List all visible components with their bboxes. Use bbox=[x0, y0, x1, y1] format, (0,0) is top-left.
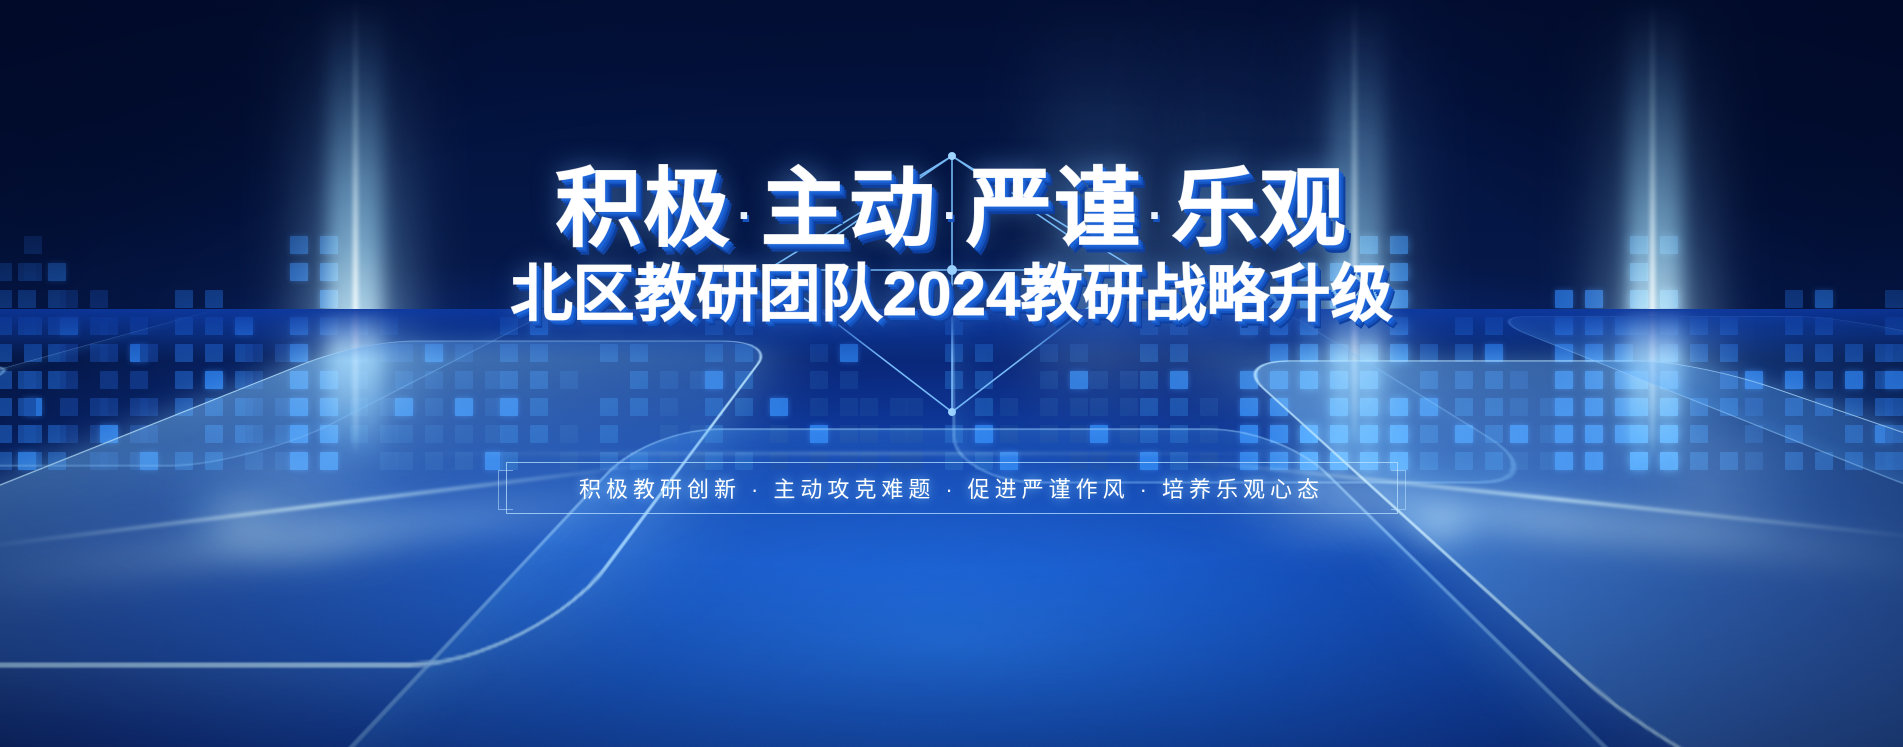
tagline-separator: · bbox=[935, 477, 967, 502]
headline-word: 主动 bbox=[761, 161, 937, 257]
headline-separator: · bbox=[1142, 189, 1171, 241]
tagline-item: 培养乐观心态 bbox=[1162, 477, 1324, 502]
tagline-item: 促进严谨作风 bbox=[968, 477, 1130, 502]
title-block: 积极·主动·严谨·乐观 北区教研团队2024教研战略升级 bbox=[0, 166, 1903, 326]
headline-separator: · bbox=[937, 189, 966, 241]
tagline-bar: 积极教研创新·主动攻克难题·促进严谨作风·培养乐观心态 bbox=[506, 462, 1398, 514]
tagline-item: 积极教研创新 bbox=[579, 477, 741, 502]
headline-word: 严谨 bbox=[966, 161, 1142, 257]
page-title: 积极·主动·严谨·乐观 bbox=[556, 166, 1348, 252]
banner-content: 积极·主动·严谨·乐观 北区教研团队2024教研战略升级 积极教研创新·主动攻克… bbox=[0, 0, 1903, 747]
headline-separator: · bbox=[732, 189, 761, 241]
banner-stage: 积极·主动·严谨·乐观 北区教研团队2024教研战略升级 积极教研创新·主动攻克… bbox=[0, 0, 1903, 747]
page-subtitle: 北区教研团队2024教研战略升级 bbox=[511, 264, 1393, 326]
tagline-text: 积极教研创新·主动攻克难题·促进严谨作风·培养乐观心态 bbox=[579, 472, 1324, 504]
tagline-item: 主动攻克难题 bbox=[773, 477, 935, 502]
headline-word: 积极 bbox=[556, 161, 732, 257]
tagline-separator: · bbox=[1130, 477, 1162, 502]
tagline-separator: · bbox=[741, 477, 773, 502]
headline-word: 乐观 bbox=[1171, 161, 1347, 257]
